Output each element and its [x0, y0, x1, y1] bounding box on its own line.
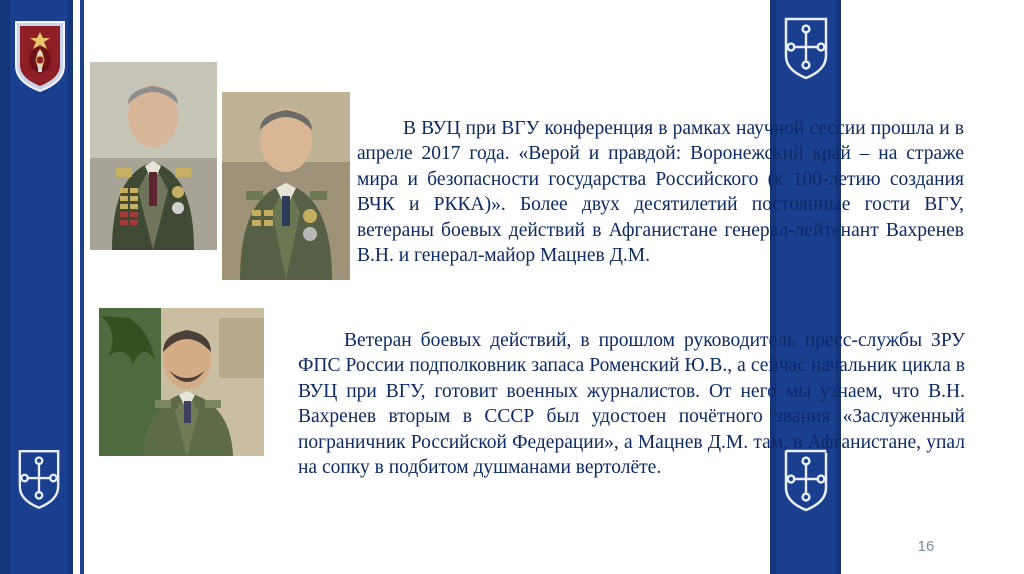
- left-band-accent: [80, 0, 84, 574]
- paragraph-1: В ВУЦ при ВГУ конференция в рамках научн…: [357, 116, 964, 269]
- page-number: 16: [906, 538, 946, 555]
- left-band-gap: [73, 0, 80, 574]
- border-guard-emblem-icon: [782, 16, 830, 80]
- officer-portrait-2: [222, 92, 350, 280]
- left-band-outer: [0, 0, 10, 574]
- slide: В ВУЦ при ВГУ конференция в рамках научн…: [0, 0, 1024, 574]
- officer-portrait-1: [90, 62, 217, 250]
- border-guard-emblem-icon: [16, 448, 62, 510]
- officer-portrait-3: [99, 308, 264, 456]
- fsb-coat-of-arms-icon: [12, 18, 68, 94]
- paragraph-2: Ветеран боевых действий, в прошлом руков…: [298, 328, 965, 481]
- right-band-edge: [836, 0, 841, 574]
